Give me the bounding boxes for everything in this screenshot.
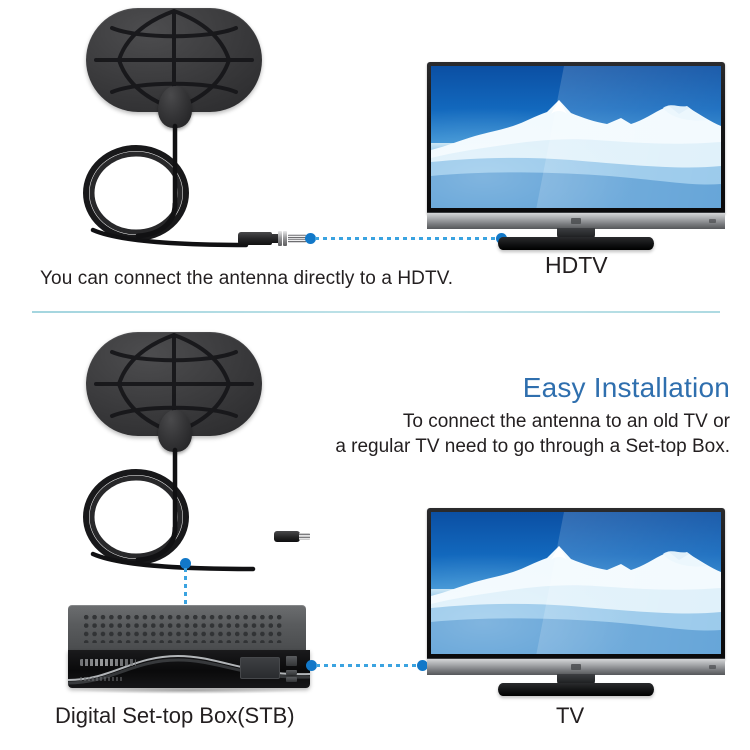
- link-dashes: [184, 568, 187, 610]
- stb-model-text: [80, 677, 122, 681]
- connector-neck: [271, 234, 278, 243]
- stb-drop-shadow: [74, 687, 304, 694]
- label-hdtv: HDTV: [545, 252, 608, 279]
- subtitle-line-2: a regular TV need to go through a Set-to…: [335, 434, 730, 459]
- stb-menu-button[interactable]: [286, 670, 297, 675]
- tv-ir-sensor-icon: [709, 219, 716, 223]
- tv-chin-bar: [427, 212, 725, 229]
- tv-stand-base: [498, 683, 654, 696]
- stb-power-button[interactable]: [286, 656, 297, 666]
- tv-bezel: [427, 62, 725, 214]
- label-set-top-box: Digital Set-top Box(STB): [55, 703, 295, 729]
- stb-brand-logo: [80, 659, 136, 666]
- link-dashes: [316, 664, 420, 667]
- antenna-top: [78, 8, 338, 248]
- tv-brand-logo: [571, 664, 581, 670]
- stb-front-panel: [68, 650, 310, 688]
- stb-top-panel: [68, 605, 306, 651]
- label-tv: TV: [556, 703, 584, 729]
- television-tv: [427, 508, 725, 698]
- connector-pin: [299, 533, 310, 540]
- connector-body: [274, 531, 300, 542]
- tv-screen: [431, 512, 721, 654]
- tv-bezel: [427, 508, 725, 660]
- tv-screen-mountains: [431, 66, 721, 208]
- section-divider: [32, 311, 720, 313]
- tv-chin-bar: [427, 658, 725, 675]
- infographic-canvas: HDTV You can connect the antenna directl…: [0, 0, 750, 750]
- connector-body: [238, 232, 272, 245]
- tv-stand-base: [498, 237, 654, 250]
- connector-pin: [288, 234, 306, 243]
- coaxial-connector-bottom: [274, 528, 318, 546]
- tv-ir-sensor-icon: [709, 665, 716, 669]
- stb-button-group[interactable]: [286, 656, 298, 682]
- digital-set-top-box: [68, 605, 310, 697]
- antenna-cable-bottom: [78, 432, 338, 582]
- stb-ok-button[interactable]: [286, 677, 297, 682]
- connector-ring-2: [283, 231, 287, 246]
- stb-front-display: [240, 657, 280, 679]
- subtitle-easy-installation: To connect the antenna to an old TV or a…: [335, 409, 730, 459]
- tv-screen: [431, 66, 721, 208]
- subtitle-line-1: To connect the antenna to an old TV or: [335, 409, 730, 434]
- television-hdtv: [427, 62, 725, 252]
- tv-screen-mountains: [431, 512, 721, 654]
- stb-vent-holes: [82, 613, 282, 643]
- tv-brand-logo: [571, 218, 581, 224]
- caption-direct-connect: You can connect the antenna directly to …: [40, 268, 453, 290]
- heading-easy-installation: Easy Installation: [523, 372, 730, 404]
- connector-ring-1: [278, 231, 282, 246]
